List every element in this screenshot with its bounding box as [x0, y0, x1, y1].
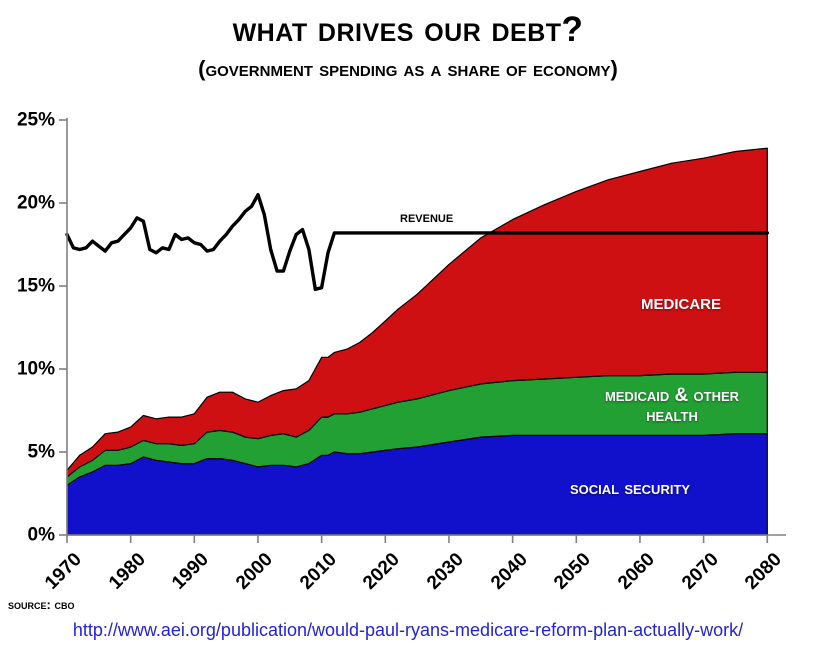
y-axis-tick-label: 15%: [9, 277, 55, 296]
y-axis-tick-label: 5%: [9, 443, 55, 462]
y-axis-tick-label: 20%: [9, 194, 55, 213]
series-label-revenue: Revenue: [400, 209, 453, 227]
series-label-medicaid-other-health: Medicaid & Other Health: [572, 386, 772, 426]
stacked-area-chart: [0, 0, 816, 648]
y-axis-tick-label: 25%: [9, 111, 55, 130]
series-label-social-security: Social Security: [520, 479, 740, 499]
y-axis-tick-label: 0%: [9, 526, 55, 545]
source-url-link[interactable]: http://www.aei.org/publication/would-pau…: [0, 620, 816, 641]
y-axis-tick-label: 10%: [9, 360, 55, 379]
series-label-medicare: Medicare: [596, 292, 766, 314]
source-note: Source: CBO: [8, 597, 74, 612]
chart-page: What Drives Our Debt? (Government Spendi…: [0, 0, 816, 648]
